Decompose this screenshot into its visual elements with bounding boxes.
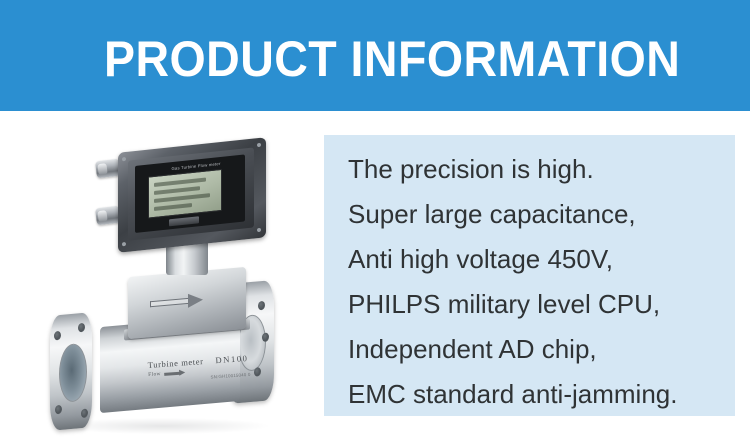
display-head-enclosure: Gas Turbine Flow meter — [118, 137, 266, 253]
keypad-strip — [169, 216, 199, 226]
product-image: Turbine meterDN100 Flow SN:GH10015040 0 — [38, 128, 320, 420]
flange-left-bore — [59, 343, 87, 403]
bolt-hole — [78, 323, 85, 333]
feature-item: EMC standard anti-jamming. — [348, 372, 729, 417]
feature-item: Anti high voltage 450V, — [348, 237, 729, 282]
bolt-hole — [258, 301, 265, 311]
feature-item: Independent AD chip, — [348, 327, 729, 372]
flow-direction-icon — [164, 371, 180, 375]
feature-item: The precision is high. — [348, 147, 729, 192]
product-information-banner: PRODUCT INFORMATION Turbine meterDN100 F… — [0, 0, 750, 438]
enclosure-screw — [122, 157, 126, 161]
lcd-text-row — [154, 193, 210, 203]
bolt-hole — [54, 331, 61, 341]
meter-size-text: DN100 — [215, 353, 249, 365]
feature-list: The precision is high. Super large capac… — [348, 147, 729, 417]
bolt-hole — [55, 405, 62, 415]
header-banner: PRODUCT INFORMATION — [0, 0, 750, 111]
page-title: PRODUCT INFORMATION — [104, 28, 662, 90]
meter-flow-text: Flow — [148, 371, 161, 378]
bolt-hole — [262, 332, 269, 342]
flow-arrow-icon — [150, 292, 208, 311]
feature-item: Super large capacitance, — [348, 192, 729, 237]
bolt-hole — [81, 409, 88, 419]
enclosure-screw — [122, 242, 126, 246]
feature-panel: The precision is high. Super large capac… — [324, 135, 735, 416]
lcd-screen — [148, 169, 222, 219]
enclosure-screw — [257, 143, 261, 147]
display-faceplate: Gas Turbine Flow meter — [135, 154, 245, 233]
lcd-text-row — [154, 186, 200, 195]
flange-left — [50, 312, 92, 431]
product-shadow — [58, 418, 268, 434]
feature-item: PHILPS military level CPU, — [348, 282, 729, 327]
lcd-text-row — [154, 203, 192, 211]
enclosure-screw — [257, 228, 261, 232]
display-bezel: Gas Turbine Flow meter — [128, 147, 254, 240]
junction-box — [128, 267, 246, 339]
